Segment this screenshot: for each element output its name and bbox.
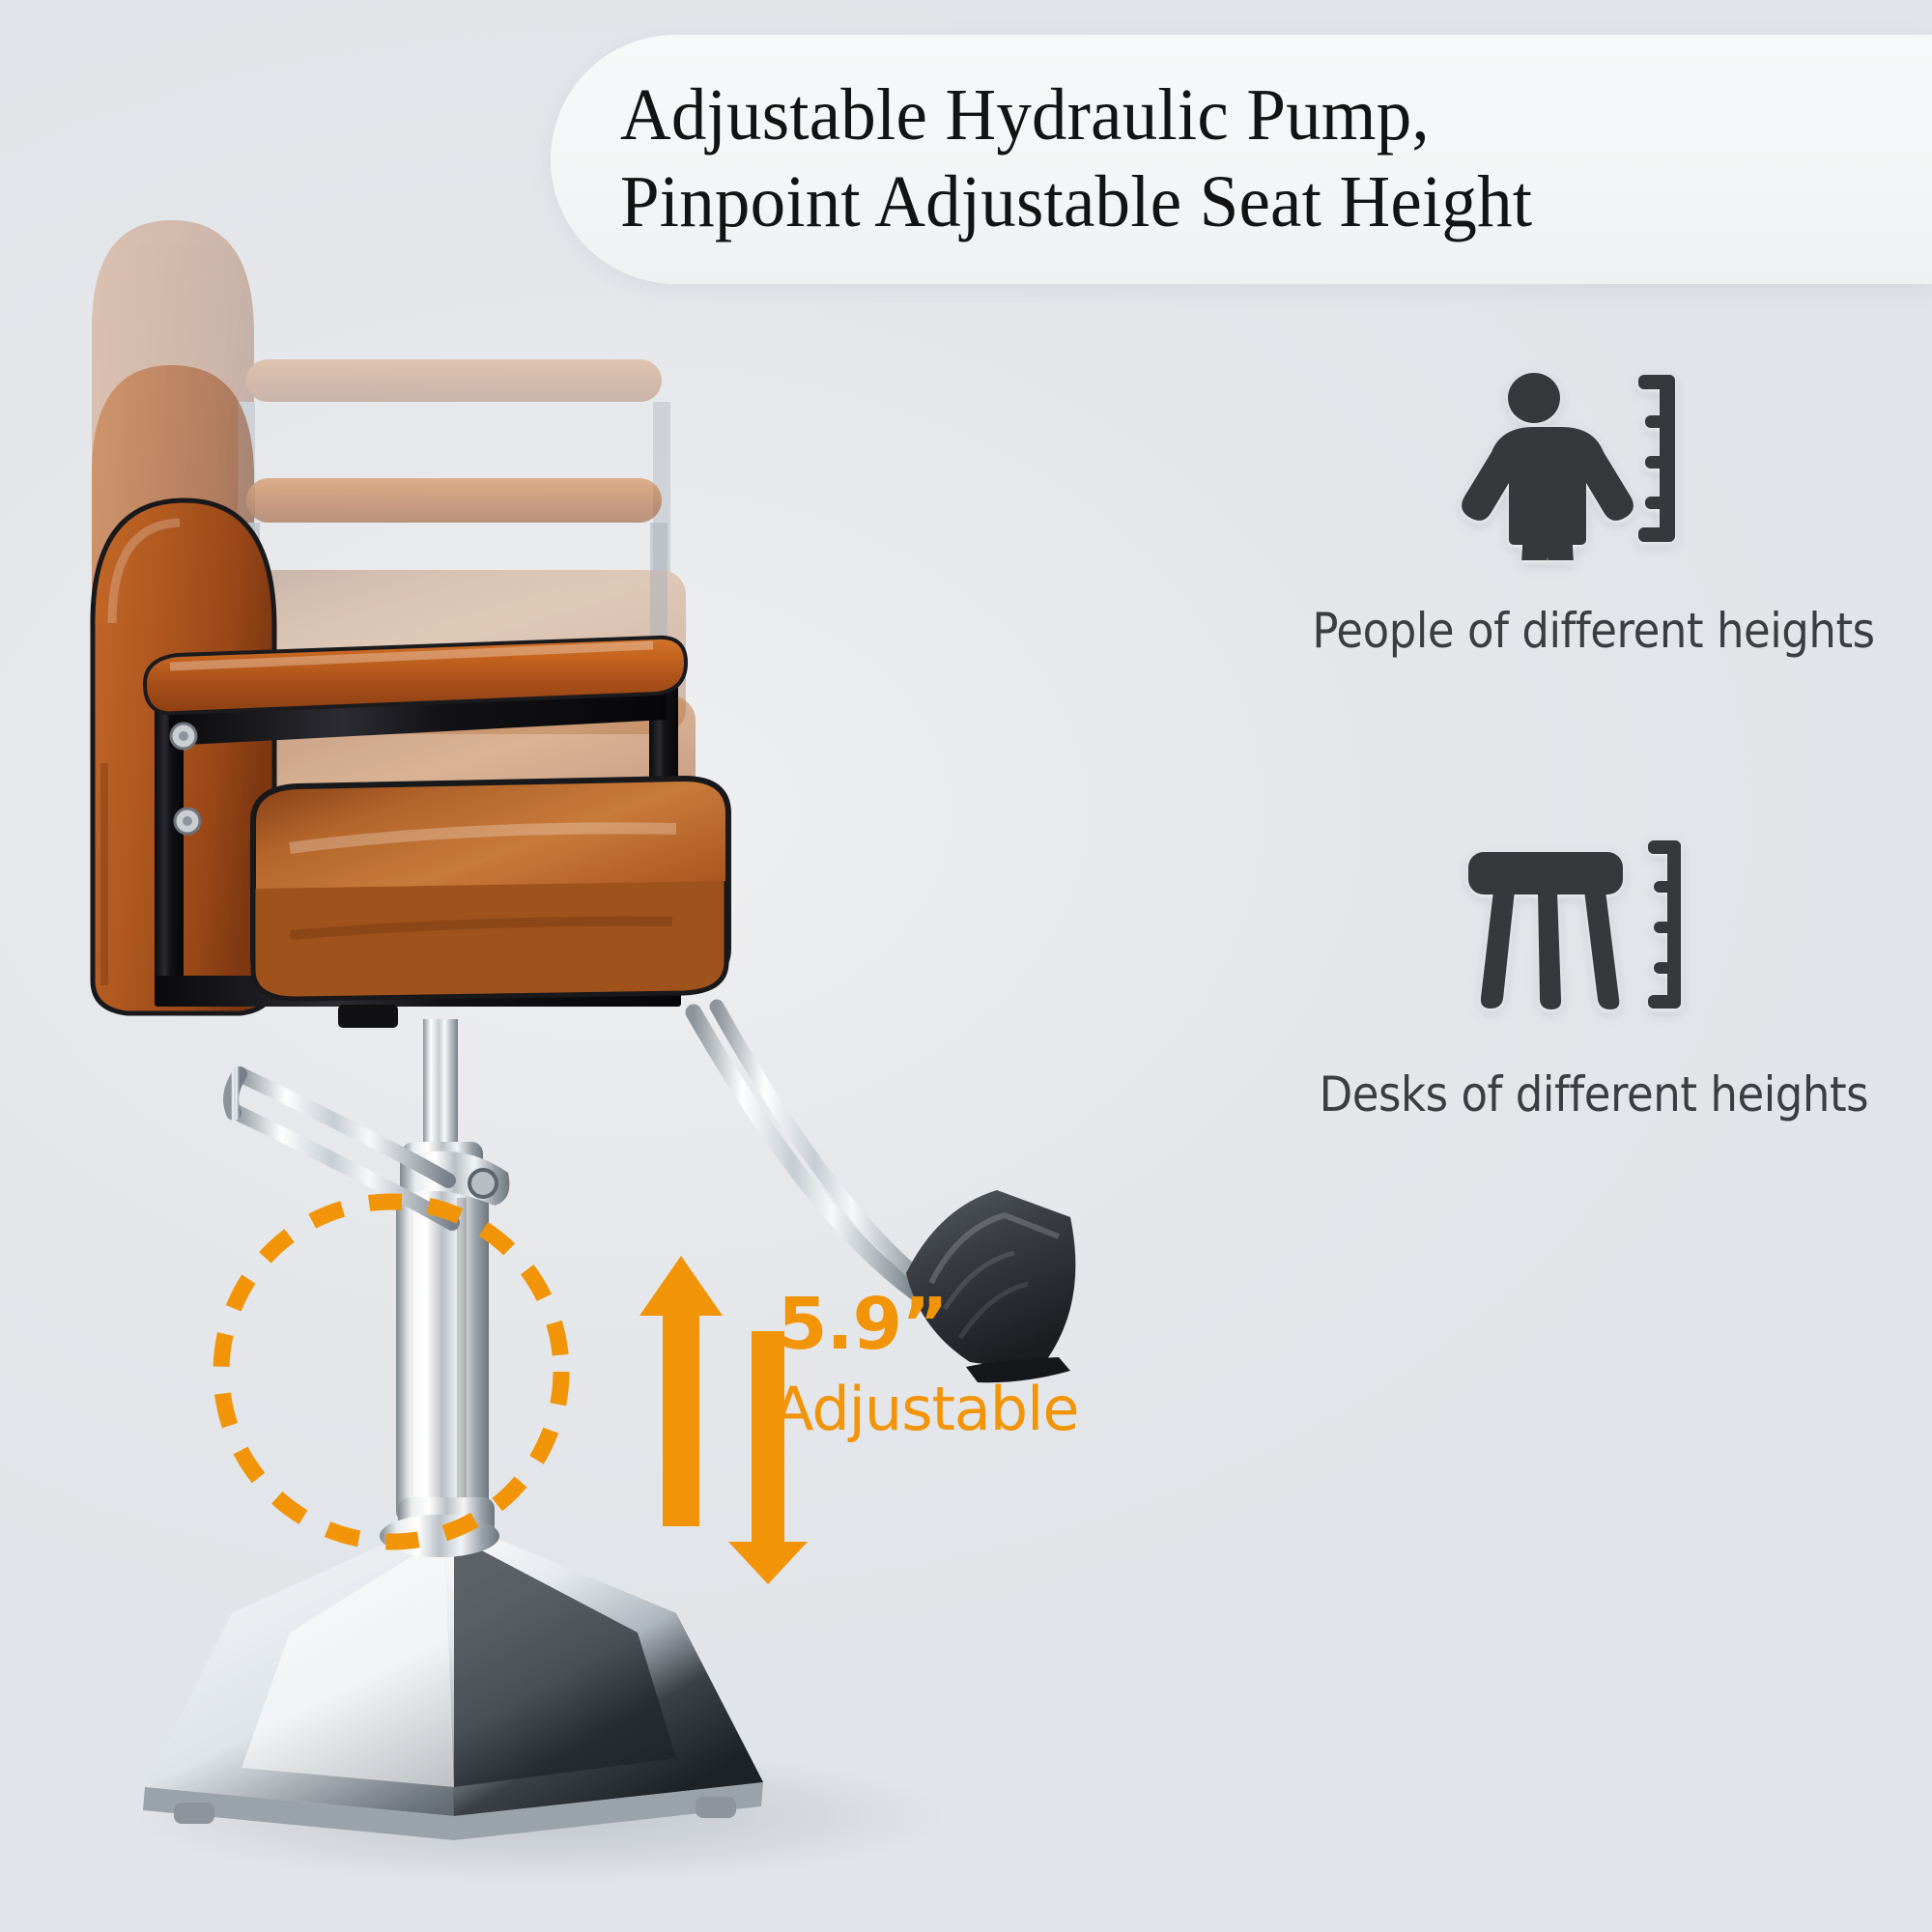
height-adjust-annotation: 5.9” Adjustable [638, 1256, 1101, 1584]
person-with-height-ruler-icon [1449, 367, 1739, 560]
title-line-1: Adjustable Hydraulic Pump, [620, 72, 1880, 159]
stool-with-height-ruler-icon [1449, 831, 1739, 1024]
title-line-2: Pinpoint Adjustable Seat Height [620, 159, 1880, 246]
feature-people-icon-row [1449, 367, 1739, 560]
up-arrow-icon [639, 1256, 723, 1526]
product-illustration [0, 87, 1207, 1932]
adjust-range-value: 5.9” [778, 1283, 948, 1366]
feature-desk-icon-row [1449, 831, 1739, 1024]
title-card: Adjustable Hydraulic Pump, Pinpoint Adju… [551, 35, 1932, 284]
feature-people-heights: People of different heights [1314, 367, 1874, 659]
chair-seat-cushion [253, 779, 728, 999]
infographic-canvas: 5.9” Adjustable Adjustable Hydraulic Pum… [0, 0, 1932, 1932]
dashed-circle-highlight [208, 1188, 575, 1555]
feature-desk-heights: Desks of different heights [1314, 831, 1874, 1122]
adjust-range-label: Adjustable [773, 1374, 1079, 1444]
feature-desk-caption: Desks of different heights [1320, 1066, 1869, 1122]
feature-people-caption: People of different heights [1313, 603, 1875, 659]
down-arrow-icon [728, 1331, 808, 1584]
